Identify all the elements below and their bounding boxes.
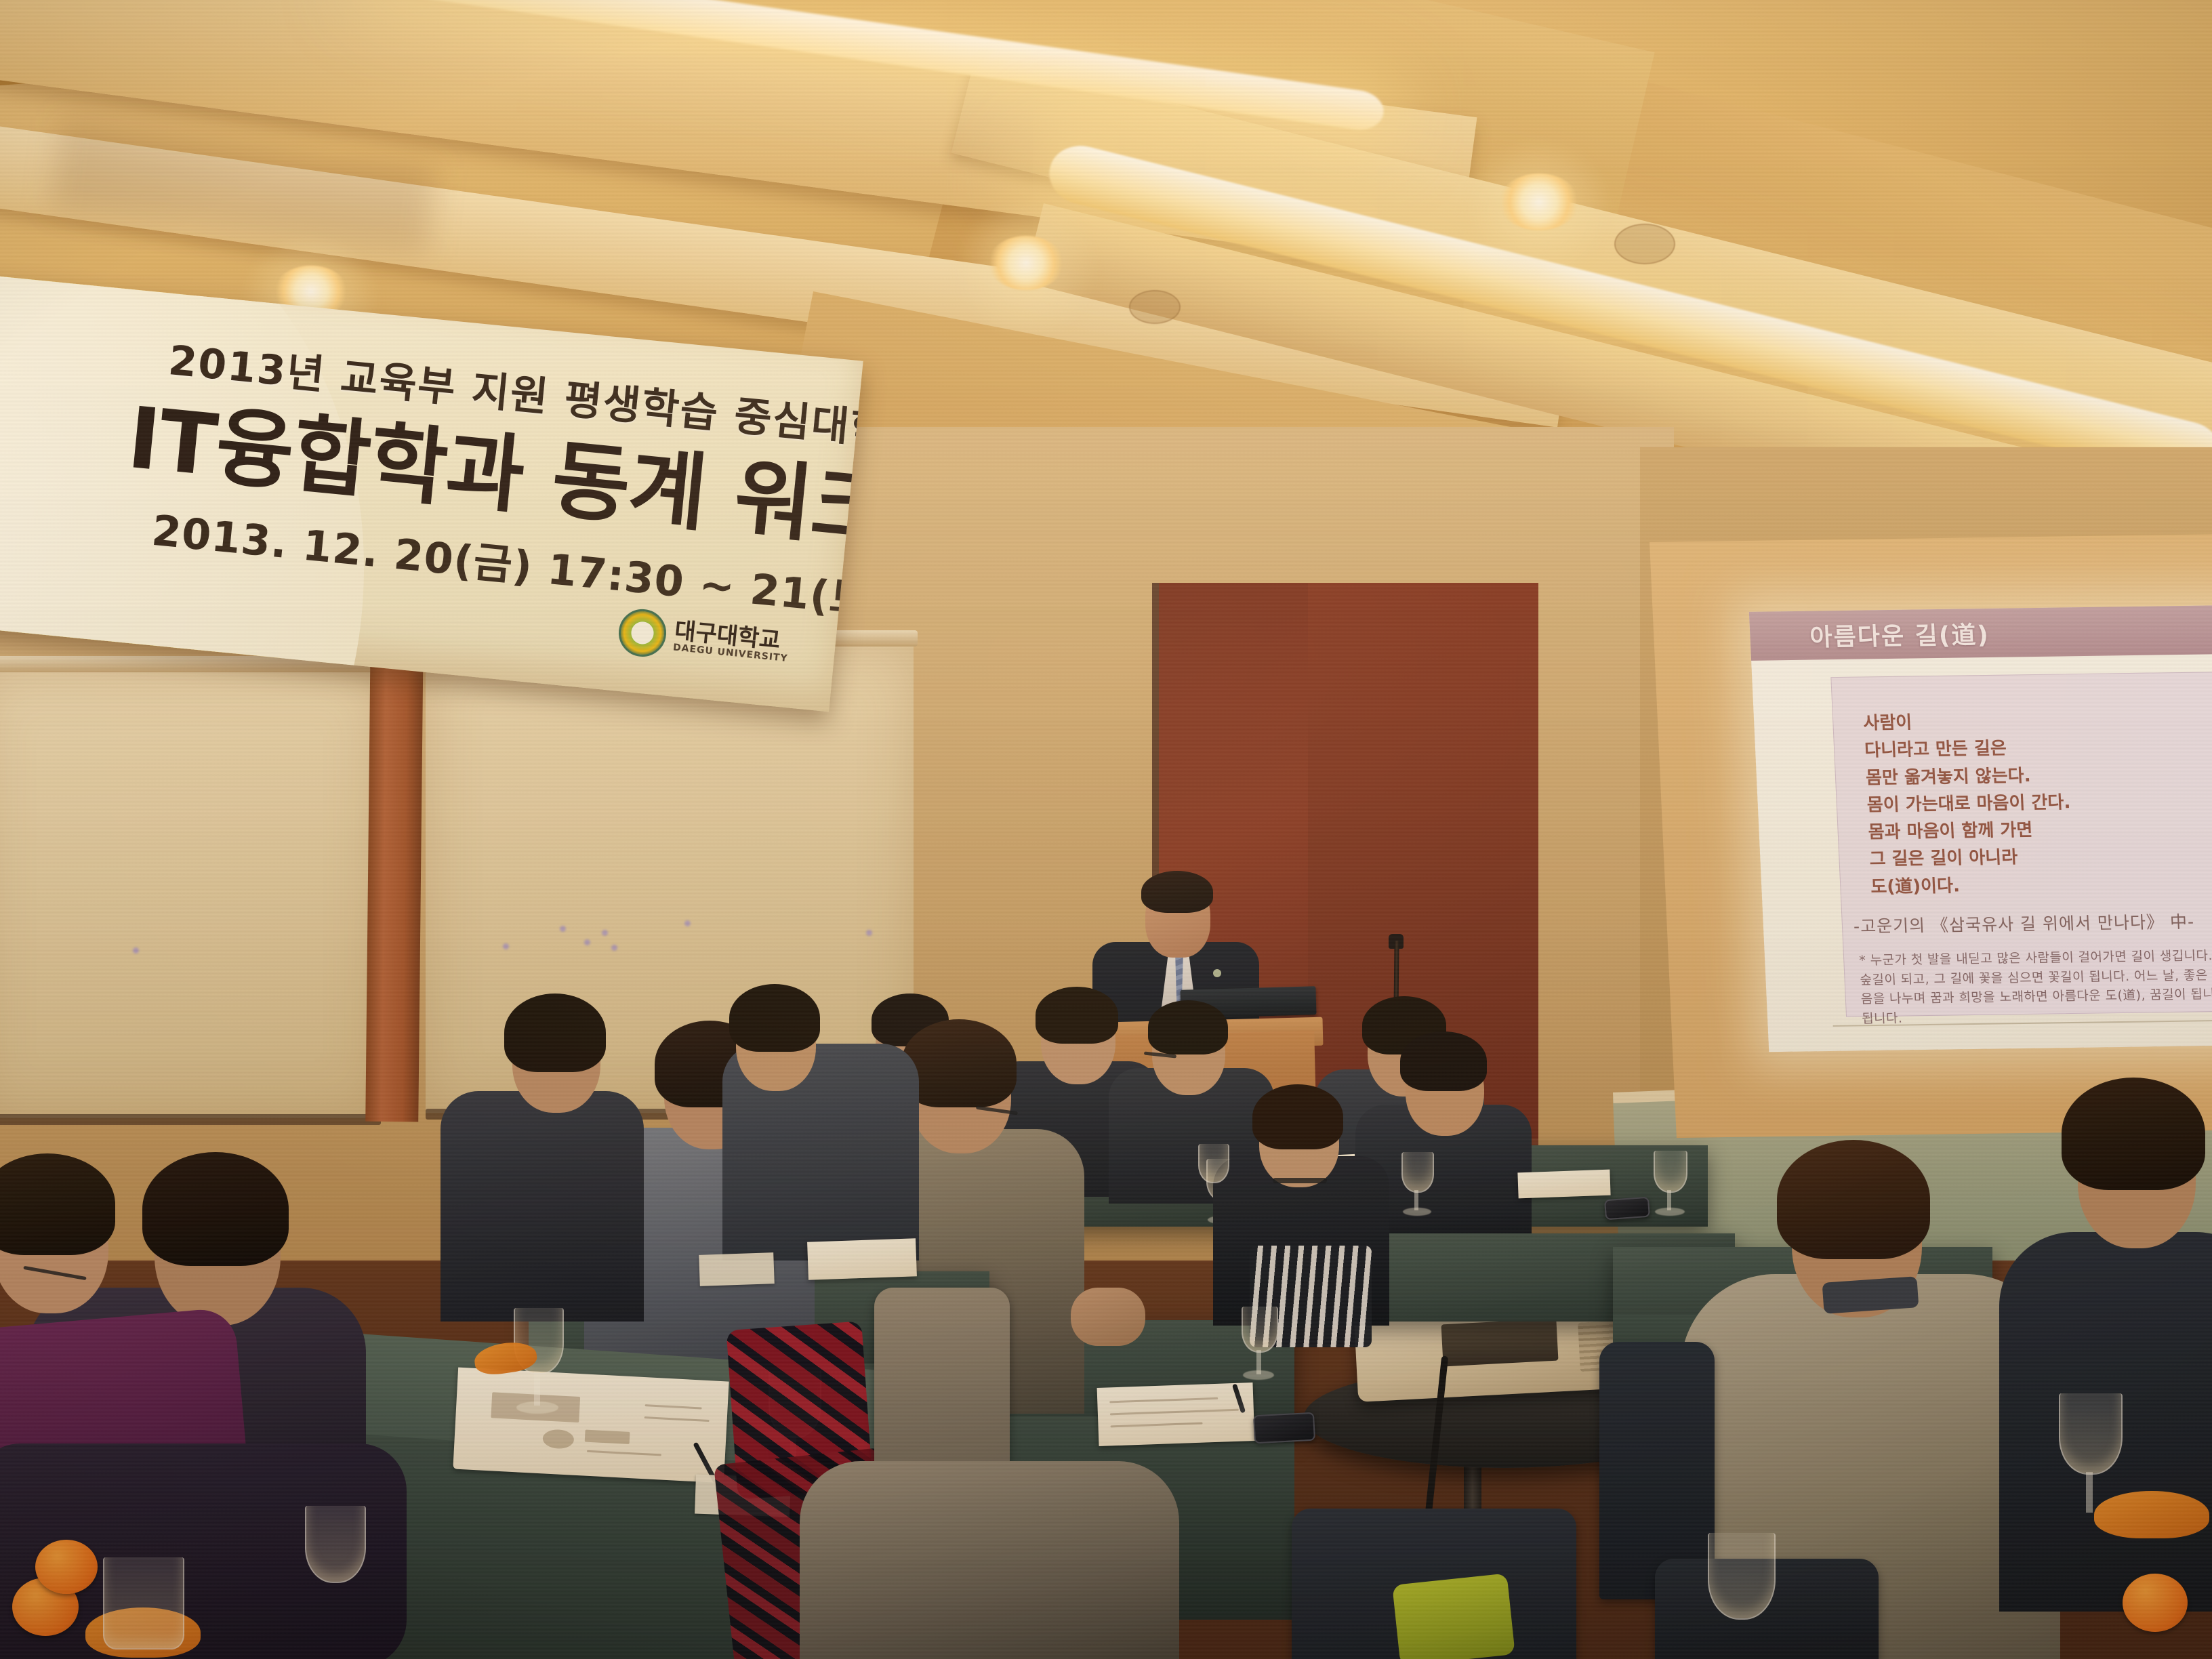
screen-bottom-bar-left — [0, 1114, 381, 1125]
wine-glass-foot — [1655, 1208, 1685, 1216]
booklet-image — [585, 1430, 630, 1444]
slide-footnote: * 누군가 첫 발을 내딛고 많은 사람들이 걸어가면 길이 생깁니다. 그 곳… — [1859, 945, 2212, 1028]
poem-line: 몸만 옮겨놓지 않는다. — [1865, 762, 2070, 792]
screen-speckle — [611, 945, 617, 951]
booklet-text-line — [645, 1404, 702, 1409]
poem-line: 몸과 마음이 함께 가면 — [1868, 816, 2072, 846]
attendee-hair-foreground — [142, 1152, 289, 1266]
screen-speckle — [584, 939, 590, 945]
booklet-text-line — [1110, 1409, 1239, 1416]
booklet-text-line — [1109, 1397, 1218, 1404]
wine-glass — [2059, 1393, 2123, 1475]
attendee-hands — [1071, 1288, 1145, 1346]
slide-poem: 사람이 다니라고 만든 길은 몸만 옮겨놓지 않는다. 몸이 가는대로 마음이 … — [1863, 707, 2075, 901]
wood-pillar — [365, 634, 424, 1122]
open-booklet — [1097, 1382, 1255, 1446]
screen-speckle — [684, 920, 691, 926]
tangerine — [2123, 1574, 2188, 1632]
water-glass — [1708, 1533, 1776, 1620]
attendee-hair — [1777, 1140, 1930, 1259]
screen-speckle — [133, 947, 139, 954]
attendee-hair — [1252, 1084, 1343, 1149]
poem-line: 사람이 — [1863, 707, 2068, 737]
tangerine — [35, 1540, 98, 1594]
projected-slide: 아름다운 길(道) 사람이 다니라고 만든 길은 몸만 옮겨놓지 않는다. 몸이… — [1749, 605, 2212, 1052]
wine-glass-foot — [1243, 1370, 1274, 1380]
downlight-icon-2 — [988, 236, 1064, 290]
attendee-torso — [441, 1091, 644, 1322]
projection-screen-left — [0, 671, 380, 1118]
attendee-hair — [1400, 1031, 1487, 1091]
necklace-icon — [1273, 1178, 1327, 1183]
screen-speckle — [602, 930, 608, 936]
projection-screen-right: 아름다운 길(道) 사람이 다니라고 만든 길은 몸만 옮겨놓지 않는다. 몸이… — [1650, 534, 2212, 1151]
attendee-hair — [2062, 1078, 2205, 1190]
screen-speckle — [503, 943, 509, 949]
booklet-text-line — [1111, 1422, 1203, 1428]
open-booklet — [1517, 1170, 1610, 1199]
projector-port-panel — [1441, 1319, 1558, 1367]
slide-attribution: -고운기의 《삼국유사 길 위에서 만나다》 中- — [1853, 909, 2195, 938]
wine-glass — [1654, 1151, 1687, 1193]
slide-title: 아름다운 길(道) — [1809, 615, 1990, 653]
downlight-icon-3 — [1499, 173, 1579, 230]
attendee-torso-foreground-3 — [800, 1461, 1179, 1659]
wine-glass-foot — [516, 1401, 558, 1414]
wine-glass-stem — [534, 1372, 540, 1406]
ceiling-vent-icon-2 — [1129, 290, 1181, 324]
ceiling-vent-icon-1 — [1614, 224, 1675, 264]
tangerine-peel — [2094, 1491, 2209, 1538]
booklet-image — [542, 1429, 574, 1449]
wine-glass — [1242, 1307, 1278, 1353]
wine-glass-stem — [2086, 1472, 2093, 1513]
screen-speckle — [866, 930, 872, 936]
poem-line: 도(道)이다. — [1870, 871, 2075, 901]
water-glass-foreground — [103, 1557, 184, 1650]
wine-glass — [1401, 1152, 1434, 1193]
attendee-hair — [1036, 987, 1118, 1044]
attendee-hair — [729, 984, 820, 1052]
slide-header-bar: 아름다운 길(道) — [1749, 605, 2212, 661]
water-glass — [1198, 1144, 1229, 1183]
attendee-hair — [504, 994, 606, 1072]
poem-line: 몸이 가는대로 마음이 간다. — [1866, 789, 2071, 819]
poem-line: 그 길은 길이 아니라 — [1869, 844, 2074, 874]
speaker-hair — [1141, 871, 1213, 913]
smartphone[interactable] — [1253, 1412, 1315, 1444]
open-booklet — [807, 1238, 917, 1280]
daegu-university-emblem-icon — [617, 607, 668, 659]
booklet-text-line — [587, 1450, 661, 1456]
poem-line: 다니라고 만든 길은 — [1864, 735, 2068, 764]
slide-content-box: 사람이 다니라고 만든 길은 몸만 옮겨놓지 않는다. 몸이 가는대로 마음이 … — [1830, 672, 2212, 1017]
screen-speckle — [560, 926, 566, 932]
attendee-hair — [1148, 1000, 1228, 1054]
paper-napkin — [699, 1252, 775, 1286]
speaker-lapel-pin-icon — [1213, 969, 1221, 977]
shoe — [1392, 1573, 1515, 1659]
water-glass — [305, 1506, 366, 1583]
shirt-collar — [1822, 1276, 1919, 1314]
open-booklet-large — [453, 1368, 729, 1483]
wine-glass-foot — [1403, 1208, 1431, 1216]
seminar-room-photo: 2013년 교육부 지원 평생학습 중심대학 육성사업 IT융합학과 동계 워크… — [0, 0, 2212, 1659]
smartphone[interactable] — [1604, 1197, 1650, 1221]
booklet-text-line — [644, 1416, 710, 1422]
